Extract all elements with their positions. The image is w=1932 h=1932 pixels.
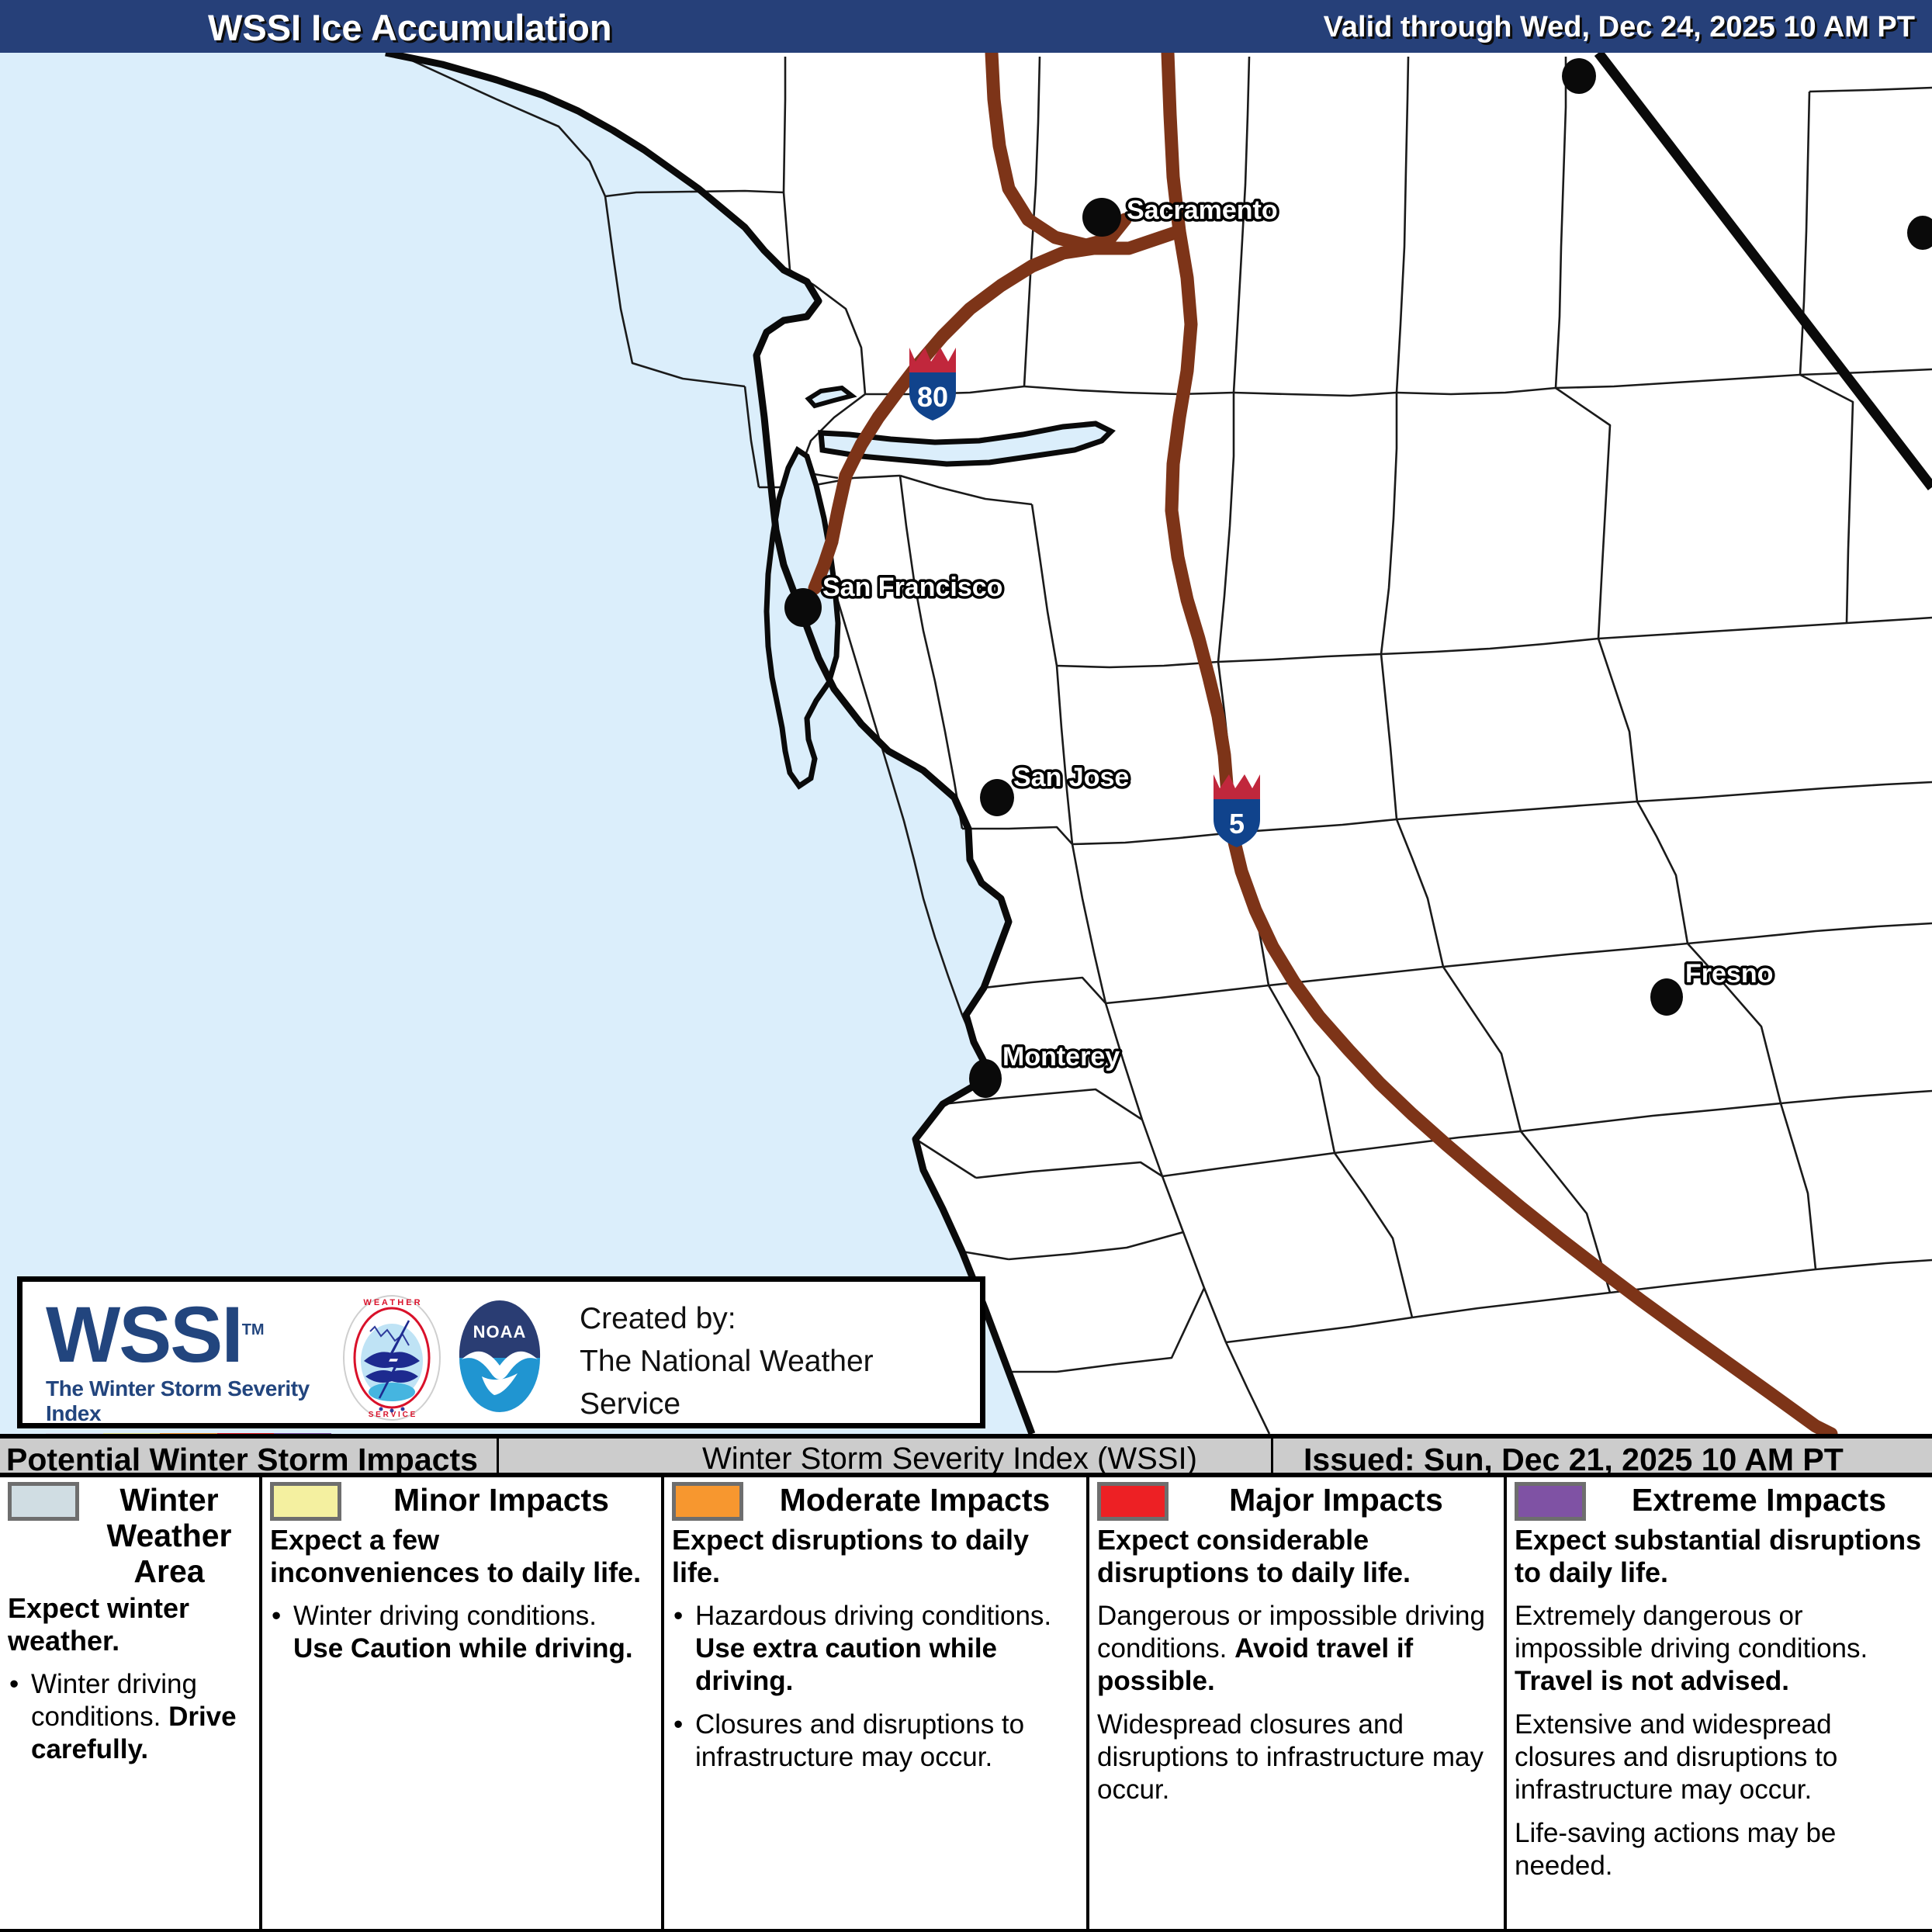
city-dot-san-jose bbox=[980, 779, 1014, 816]
legend-summary: Expect winter weather. bbox=[8, 1592, 251, 1657]
wssi-credit-box: WSSITM The Winter Storm Severity Index bbox=[17, 1276, 985, 1428]
created-by-label: Created by: bbox=[580, 1297, 980, 1340]
legend-title: Moderate Impacts bbox=[751, 1482, 1079, 1518]
legend-header: Minor Impacts bbox=[270, 1482, 653, 1521]
legend-item: Extremely dangerous or impossible drivin… bbox=[1515, 1600, 1924, 1698]
valid-through-text: Valid through Wed, Dec 24, 2025 10 AM PT bbox=[1324, 11, 1915, 44]
city-label-fresno: Fresno bbox=[1685, 959, 1773, 989]
legend-items: Dangerous or impossible driving conditio… bbox=[1097, 1600, 1496, 1806]
banner-divider-1 bbox=[497, 1439, 499, 1473]
legend-swatch-minor-impacts bbox=[270, 1482, 341, 1521]
legend-header: Extreme Impacts bbox=[1515, 1482, 1924, 1521]
legend-items: Winter driving conditions. Use Caution w… bbox=[270, 1600, 653, 1665]
credit-line-agency: The National Weather Service bbox=[580, 1340, 980, 1425]
legend-item: Winter driving conditions. Drive careful… bbox=[8, 1668, 251, 1766]
legend-column-winter-weather-area[interactable]: Winter Weather Area Expect winter weathe… bbox=[0, 1477, 262, 1929]
national-weather-service-logo: W E A T H E R S E R V I C E bbox=[341, 1293, 443, 1423]
map-canvas[interactable]: Sacramento San Francisco San Jose Fresno… bbox=[0, 53, 1932, 1434]
banner-middle-label: Winter Storm Severity Index (WSSI) bbox=[702, 1442, 1197, 1477]
legend-swatch-extreme-impacts bbox=[1515, 1482, 1586, 1521]
legend-items: Hazardous driving conditions. Use extra … bbox=[672, 1600, 1079, 1774]
city-dot-fresno bbox=[1650, 978, 1683, 1016]
legend-header: Major Impacts bbox=[1097, 1482, 1496, 1521]
legend-summary: Expect substantial disruptions to daily … bbox=[1515, 1524, 1924, 1589]
legend-item: Widespread closures and disruptions to i… bbox=[1097, 1709, 1496, 1806]
noaa-logo: NOAA bbox=[451, 1293, 549, 1423]
page-title: WSSI Ice Accumulation bbox=[208, 6, 612, 49]
agency-logos: W E A T H E R S E R V I C E NOAA bbox=[341, 1293, 550, 1423]
legend-item: Hazardous driving conditions. Use extra … bbox=[672, 1600, 1079, 1698]
svg-text:W E A T H E R: W E A T H E R bbox=[363, 1298, 420, 1307]
legend-swatch-major-impacts bbox=[1097, 1482, 1169, 1521]
legend-item: Winter driving conditions. Use Caution w… bbox=[270, 1600, 653, 1665]
svg-text:5: 5 bbox=[1229, 808, 1245, 840]
city-label-sacramento: Sacramento bbox=[1127, 196, 1278, 225]
city-dot-monterey bbox=[969, 1059, 1002, 1098]
legend-title: Minor Impacts bbox=[349, 1482, 653, 1518]
svg-text:NOAA: NOAA bbox=[473, 1322, 527, 1342]
city-label-monterey: Monterey bbox=[1002, 1042, 1120, 1072]
svg-text:80: 80 bbox=[917, 381, 948, 413]
legend-summary: Expect considerable disruptions to daily… bbox=[1097, 1524, 1496, 1589]
wssi-wordmark-text: WSSI bbox=[46, 1290, 242, 1379]
legend-column-moderate-impacts[interactable]: Moderate Impacts Expect disruptions to d… bbox=[664, 1477, 1089, 1929]
wssi-ice-accumulation-page: WSSI Ice Accumulation Valid through Wed,… bbox=[0, 0, 1932, 1932]
legend-title: Extreme Impacts bbox=[1594, 1482, 1924, 1518]
legend-column-extreme-impacts[interactable]: Extreme Impacts Expect substantial disru… bbox=[1507, 1477, 1932, 1929]
city-dot-sacramento bbox=[1082, 198, 1121, 237]
legend-items: Extremely dangerous or impossible drivin… bbox=[1515, 1600, 1924, 1882]
land-polygon bbox=[386, 53, 1932, 1434]
impacts-legend: Winter Weather Area Expect winter weathe… bbox=[0, 1477, 1932, 1932]
city-label-san-jose: San Jose bbox=[1013, 763, 1129, 792]
city-dot-san-francisco bbox=[784, 588, 822, 627]
legend-swatch-winter-weather-area bbox=[8, 1482, 79, 1521]
legend-item: Closures and disruptions to infrastructu… bbox=[672, 1709, 1079, 1774]
impacts-banner: Potential Winter Storm Impacts Winter St… bbox=[0, 1434, 1932, 1477]
map-geography: Sacramento San Francisco San Jose Fresno… bbox=[0, 53, 1932, 1434]
legend-item: Dangerous or impossible driving conditio… bbox=[1097, 1600, 1496, 1698]
trademark-symbol: TM bbox=[242, 1321, 265, 1338]
banner-left-title: Potential Winter Storm Impacts bbox=[6, 1442, 478, 1478]
wssi-wordmark: WSSITM bbox=[46, 1290, 348, 1375]
legend-summary: Expect disruptions to daily life. bbox=[672, 1524, 1079, 1589]
legend-column-major-impacts[interactable]: Major Impacts Expect considerable disrup… bbox=[1089, 1477, 1507, 1929]
banner-issued-text: Issued: Sun, Dec 21, 2025 10 AM PT bbox=[1304, 1442, 1844, 1478]
legend-item: Extensive and widespread closures and di… bbox=[1515, 1709, 1924, 1806]
legend-item: Life-saving actions may be needed. bbox=[1515, 1817, 1924, 1882]
legend-column-minor-impacts[interactable]: Minor Impacts Expect a few inconvenience… bbox=[262, 1477, 664, 1929]
legend-header: Winter Weather Area bbox=[8, 1482, 251, 1589]
city-dot-unnamed-north bbox=[1562, 58, 1596, 94]
page-header: WSSI Ice Accumulation Valid through Wed,… bbox=[0, 0, 1932, 53]
banner-divider-2 bbox=[1271, 1439, 1273, 1473]
legend-items: Winter driving conditions. Drive careful… bbox=[8, 1668, 251, 1766]
legend-title: Major Impacts bbox=[1176, 1482, 1496, 1518]
wssi-subtitle: The Winter Storm Severity Index bbox=[46, 1376, 348, 1426]
legend-summary: Expect a few inconveniences to daily lif… bbox=[270, 1524, 653, 1589]
wssi-logo: WSSITM The Winter Storm Severity Index bbox=[46, 1290, 348, 1425]
legend-title: Winter Weather Area bbox=[87, 1482, 251, 1589]
legend-swatch-moderate-impacts bbox=[672, 1482, 743, 1521]
city-label-san-francisco: San Francisco bbox=[822, 573, 1002, 602]
legend-header: Moderate Impacts bbox=[672, 1482, 1079, 1521]
